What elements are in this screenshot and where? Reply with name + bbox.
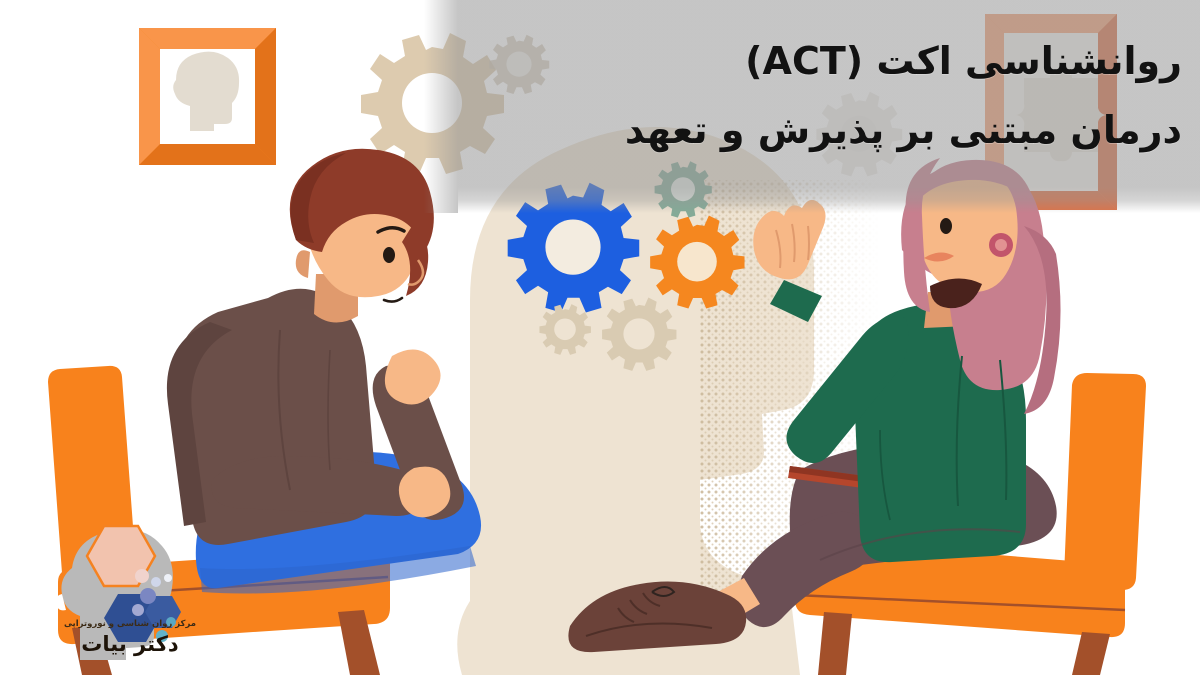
page-title: روانشناسی اکت (ACT) درمان مبتنی بر پذیرش… bbox=[522, 34, 1182, 158]
illustration-canvas: روانشناسی اکت (ACT) درمان مبتنی بر پذیرش… bbox=[0, 0, 1200, 675]
logo-subtitle: مرکز روان شناسی و نوروتراپی bbox=[50, 620, 210, 629]
left-picture-frame bbox=[139, 28, 276, 165]
title-line-2: درمان مبتنی بر پذیرش و تعهد bbox=[522, 103, 1182, 158]
logo-title: دکتر بیات bbox=[50, 634, 210, 655]
title-line-1: روانشناسی اکت (ACT) bbox=[522, 34, 1182, 89]
brand-logo[interactable]: مرکز روان شناسی و نوروتراپی دکتر بیات bbox=[42, 512, 247, 667]
